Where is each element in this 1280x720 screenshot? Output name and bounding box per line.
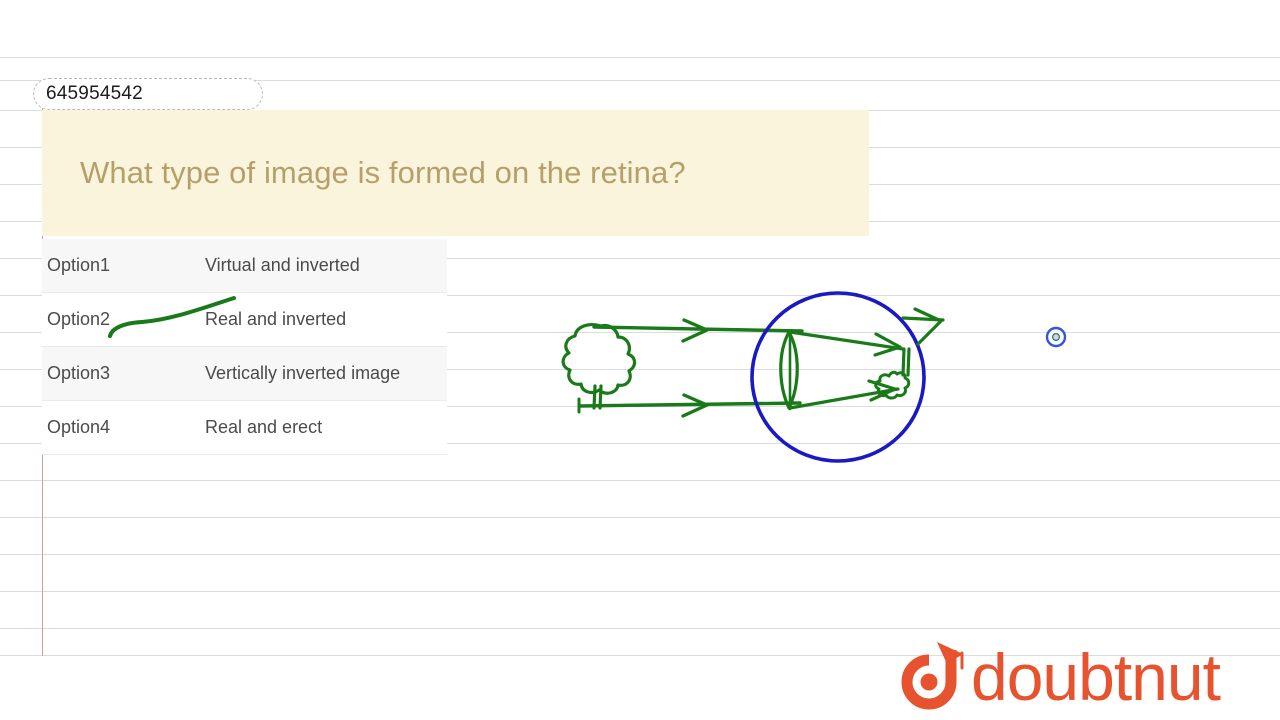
- upper-incident-ray: [594, 327, 802, 331]
- upper-incident-ray-arrowhead: [683, 320, 707, 341]
- stylus-pointer-icon[interactable]: [1045, 326, 1067, 348]
- lower-refracted-ray: [790, 389, 898, 408]
- option-key-4: Option4: [42, 417, 205, 438]
- question-id-text: 645954542: [46, 83, 143, 105]
- question-banner: What type of image is formed on the reti…: [42, 110, 869, 236]
- upper-refracted-ray: [790, 332, 903, 349]
- option-row-1[interactable]: Option1 Virtual and inverted: [42, 239, 447, 293]
- eye-outline-circle: [752, 293, 924, 461]
- retina-image-trunk-icon: [903, 349, 909, 375]
- option-value-4: Real and erect: [205, 417, 322, 438]
- doubtnut-wordmark: doubtnut: [971, 644, 1220, 710]
- option-key-3: Option3: [42, 363, 205, 384]
- option-value-2: Real and inverted: [205, 309, 346, 330]
- lower-refracted-ray-arrowhead: [869, 381, 895, 400]
- lower-incident-ray: [580, 403, 800, 406]
- doubtnut-logo: doubtnut: [893, 636, 1220, 718]
- option-key-2: Option2: [42, 309, 205, 330]
- option-value-3: Vertically inverted image: [205, 363, 400, 384]
- doubtnut-mark-icon: [893, 638, 965, 716]
- question-id-chip[interactable]: 645954542: [33, 78, 263, 110]
- eye-lens-icon: [781, 332, 798, 408]
- object-tree-crown-icon: [563, 325, 634, 394]
- option-row-2[interactable]: Option2 Real and inverted: [42, 293, 447, 347]
- question-text: What type of image is formed on the reti…: [42, 154, 702, 191]
- option-key-1: Option1: [42, 255, 205, 276]
- upper-refracted-ray-arrowhead: [875, 334, 900, 355]
- outgoing-stray-arrowhead: [915, 309, 941, 344]
- outgoing-stray-arrow: [903, 318, 943, 320]
- option-row-4[interactable]: Option4 Real and erect: [42, 401, 447, 455]
- options-panel: Option1 Virtual and inverted Option2 Rea…: [42, 239, 447, 455]
- retina-image-crown-icon: [876, 372, 909, 398]
- option-row-3[interactable]: Option3 Vertically inverted image: [42, 347, 447, 401]
- option-value-1: Virtual and inverted: [205, 255, 360, 276]
- lower-incident-ray-arrowhead: [683, 395, 707, 416]
- object-tree-trunk-icon: [594, 386, 601, 408]
